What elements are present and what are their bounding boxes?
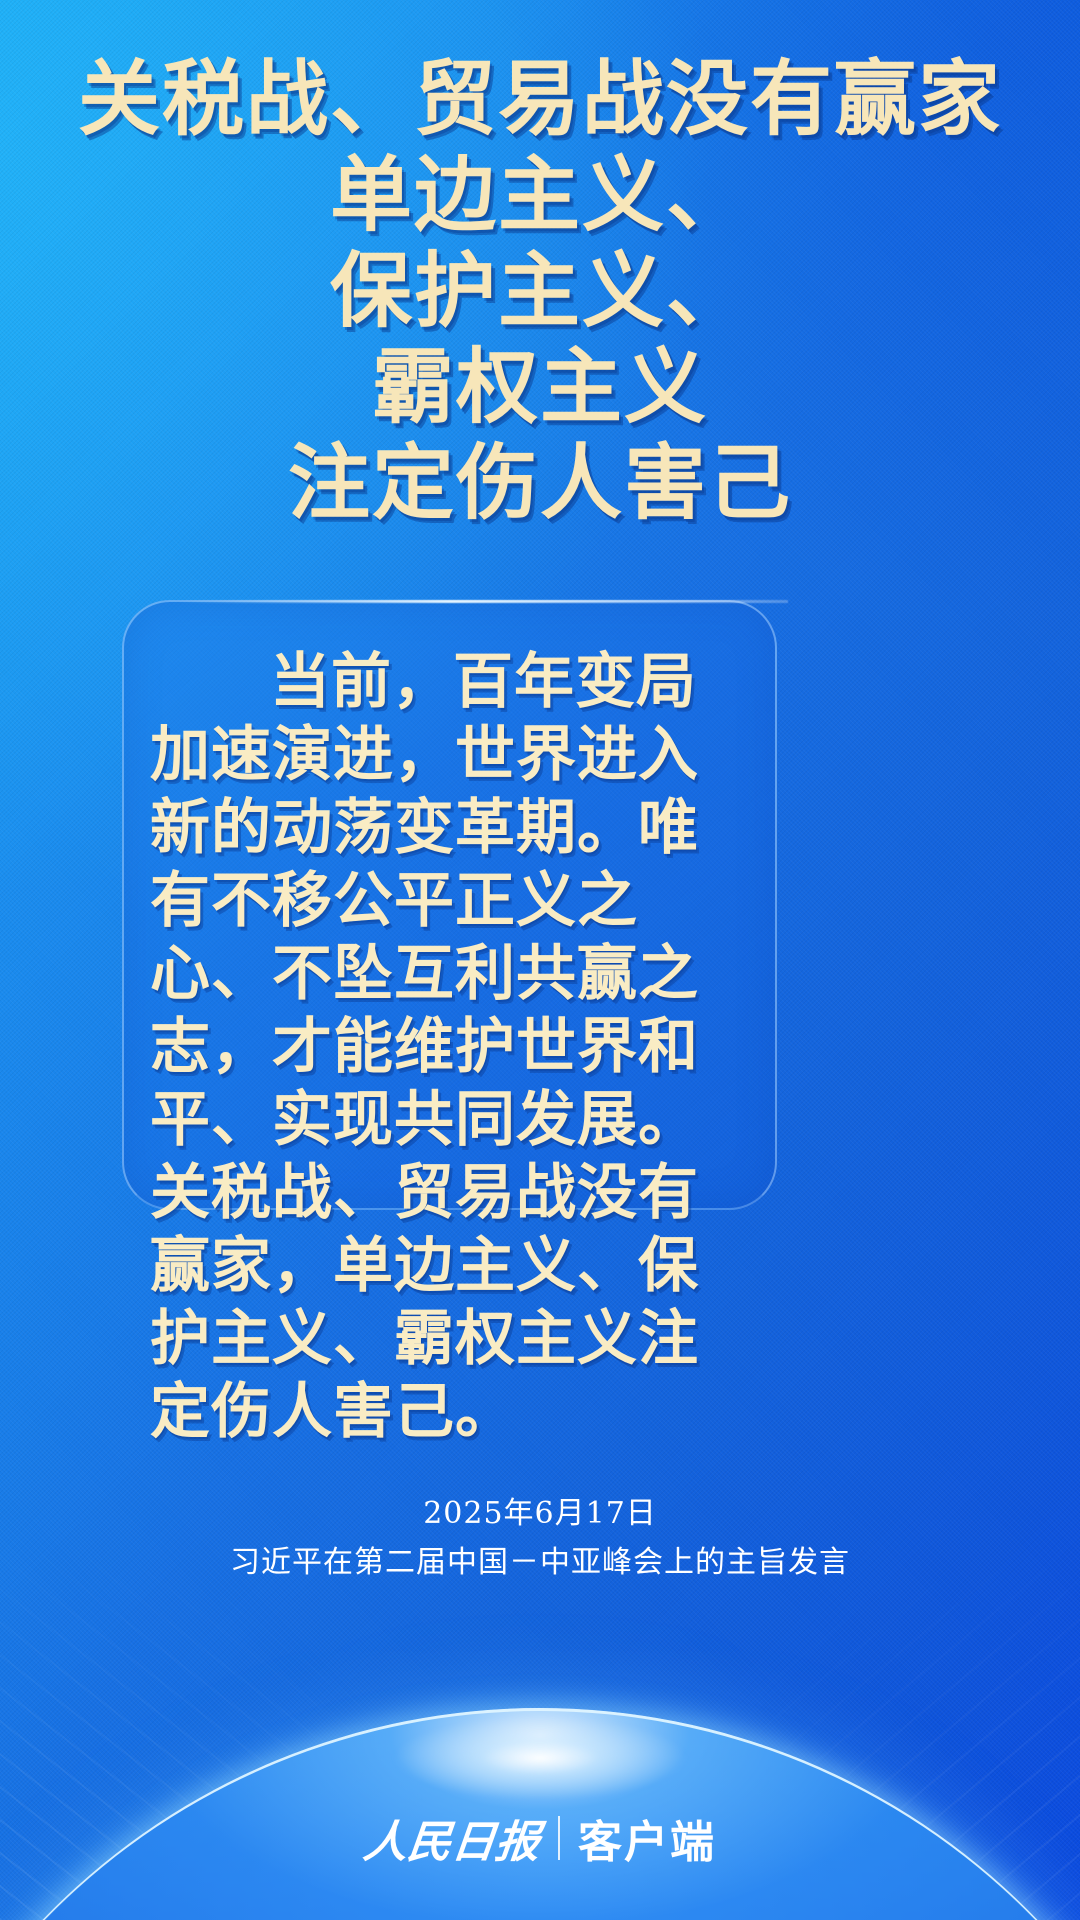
earth-flare-icon [330, 1698, 750, 1818]
attribution-source: 习近平在第二届中国－中亚峰会上的主旨发言 [0, 1538, 1080, 1588]
footer-logo: 人民日报 客户端 [0, 1806, 1080, 1870]
quote-text: 当前，百年变局加速演进，世界进入新的动荡变革期。唯有不移公平正义之心、不坠互利共… [150, 646, 750, 1449]
headline-line-4: 霸权主义 [0, 340, 1080, 436]
brand-name-peoples-daily: 人民日报 [361, 1806, 544, 1870]
brand-product-app: 客户端 [578, 1806, 716, 1870]
brand-divider-icon [558, 1816, 560, 1860]
headline-block: 关税战、贸易战没有赢家 单边主义、 保护主义、 霸权主义 注定伤人害己 [0, 52, 1080, 532]
attribution-date: 2025年6月17日 [0, 1490, 1080, 1538]
headline-line-2: 单边主义、 [0, 148, 1080, 244]
headline-line-1: 关税战、贸易战没有赢家 [0, 52, 1080, 148]
earth-horizon-graphic [0, 1660, 1080, 1920]
attribution-block: 2025年6月17日 习近平在第二届中国－中亚峰会上的主旨发言 [0, 1490, 1080, 1588]
poster-canvas: 关税战、贸易战没有赢家 单边主义、 保护主义、 霸权主义 注定伤人害己 当前，百… [0, 0, 1080, 1920]
headline-line-3: 保护主义、 [0, 244, 1080, 340]
headline-line-5: 注定伤人害己 [0, 436, 1080, 532]
